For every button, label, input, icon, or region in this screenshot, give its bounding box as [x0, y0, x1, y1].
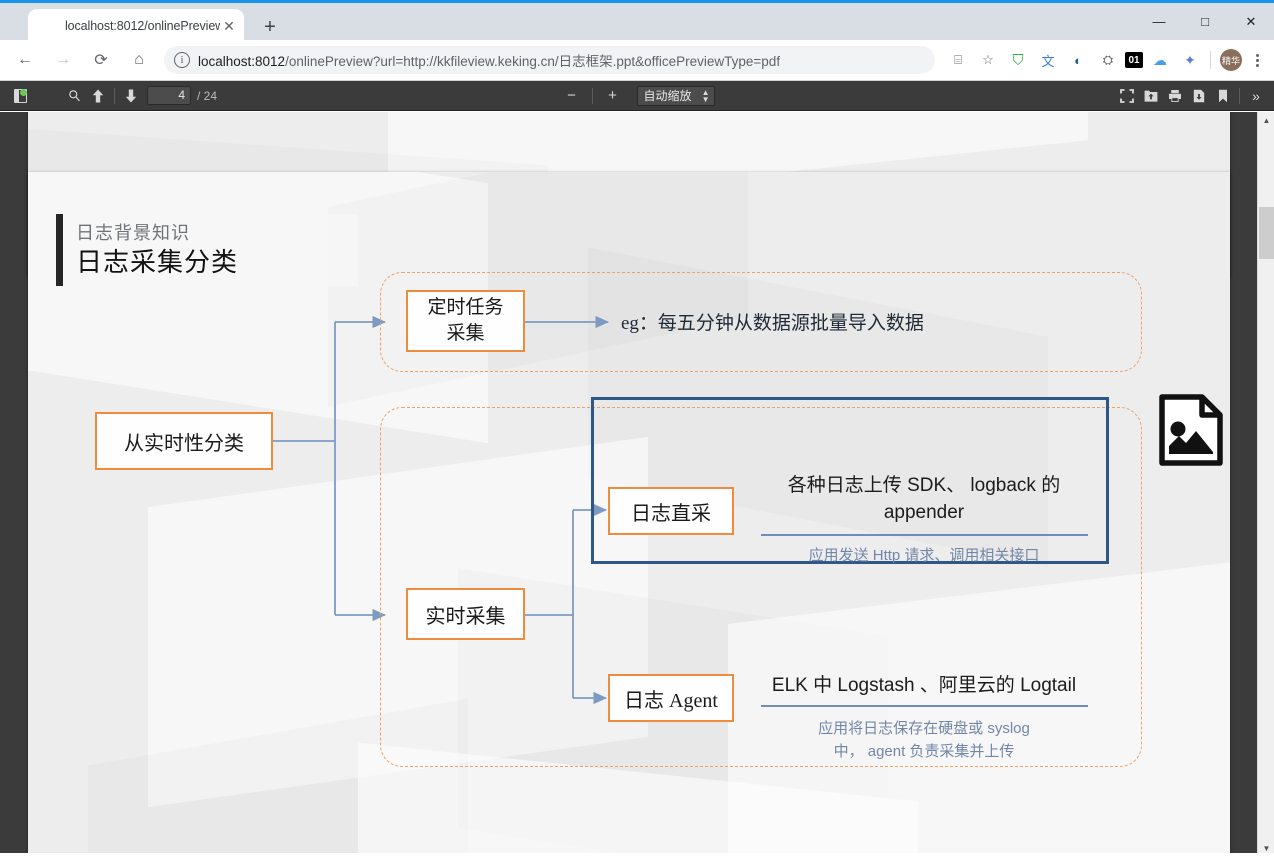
direct-collect-description: 各种日志上传 SDK、 logback 的 appender	[756, 472, 1092, 526]
opera-icon[interactable]: ◐	[1065, 47, 1091, 73]
url-host: localhost:8012	[198, 54, 285, 69]
open-file-icon[interactable]	[1139, 85, 1163, 107]
pdf-toolbar-left: 4 / 24	[0, 85, 217, 107]
sidebar-toggle-icon[interactable]	[8, 85, 32, 107]
page-number-input[interactable]: 4	[147, 86, 191, 105]
scheduled-example-label: eg：每五分钟从数据源批量导入数据	[621, 308, 924, 335]
toolbar-separator	[114, 88, 115, 104]
agent-collect-box: 日志 Agent	[608, 674, 734, 722]
reload-icon[interactable]: ⟳	[86, 45, 116, 75]
o1-badge-icon[interactable]: 01	[1125, 52, 1143, 68]
extensions-bar: ⌸ ☆ ⛉ 文 ◐ ⛭ 01 ☁ ✦ 精华	[943, 47, 1268, 73]
forward-icon[interactable]: →	[48, 45, 78, 75]
scheduled-collect-label-line1: 定时任务	[427, 295, 503, 321]
google-translate-icon[interactable]: 文	[1035, 47, 1061, 73]
bookmark-star-icon[interactable]: ☆	[975, 47, 1001, 73]
bookmark-icon[interactable]	[1211, 85, 1235, 107]
cloud-icon[interactable]: ☁	[1147, 47, 1173, 73]
tools-separator	[1239, 88, 1240, 104]
previous-page-icon[interactable]	[86, 85, 110, 107]
download-icon[interactable]	[1187, 85, 1211, 107]
scheduled-collect-label-line2: 采集	[446, 321, 484, 347]
pdf-page-current: 日志背景知识 日志采集分类	[28, 172, 1230, 857]
more-tools-button[interactable]: »	[1244, 85, 1268, 107]
scroll-up-icon[interactable]: ▲	[1258, 112, 1274, 129]
tab-close-icon[interactable]: ✕	[220, 17, 238, 35]
minimize-button[interactable]: —	[1136, 3, 1182, 40]
close-window-button[interactable]: ✕	[1228, 3, 1274, 40]
home-icon[interactable]: ⌂	[124, 45, 154, 75]
maximize-button[interactable]: □	[1182, 3, 1228, 40]
classification-root-box: 从实时性分类	[95, 412, 273, 470]
agent-collect-label: 日志 Agent	[624, 684, 718, 713]
scrollbar-thumb[interactable]	[1259, 207, 1274, 259]
leaf-icon	[40, 18, 57, 35]
zoom-select[interactable]: 自动缩放 ▲▼	[637, 86, 715, 106]
print-icon[interactable]	[1163, 85, 1187, 107]
agent-collect-note: 应用将日志保存在硬盘或 syslog 中， agent 负责采集并上传	[756, 717, 1092, 763]
direct-collect-underline	[761, 534, 1088, 536]
agent-collect-description-line1: ELK 中 Logstash 、阿里云的 Logtail	[756, 672, 1092, 699]
url-text: localhost:8012/onlinePreview?url=http://…	[198, 50, 780, 70]
direct-collect-description-line2: appender	[756, 499, 1092, 526]
address-bar[interactable]: i localhost:8012/onlinePreview?url=http:…	[164, 46, 935, 74]
tab-title: localhost:8012/onlinePreview?	[65, 19, 220, 33]
title-bar: localhost:8012/onlinePreview? ✕ + — □ ✕	[0, 0, 1274, 40]
next-page-icon[interactable]	[119, 85, 143, 107]
chevron-updown-icon: ▲▼	[702, 89, 710, 103]
direct-collect-box: 日志直采	[608, 487, 734, 535]
navigation-bar: ← → ⟳ ⌂ i localhost:8012/onlinePreview?u…	[0, 40, 1274, 81]
back-icon[interactable]: ←	[10, 45, 40, 75]
page-total-label: / 24	[197, 89, 217, 103]
broken-image-icon	[1158, 394, 1224, 466]
find-icon[interactable]	[62, 85, 86, 107]
agent-collect-note-line2: 中， agent 负责采集并上传	[756, 740, 1092, 763]
kebab-menu-icon[interactable]	[1246, 54, 1268, 67]
zoom-separator	[592, 88, 593, 104]
presentation-mode-icon[interactable]	[1115, 85, 1139, 107]
direct-collect-label: 日志直采	[631, 497, 711, 526]
new-tab-button[interactable]: +	[256, 13, 284, 41]
agent-collect-note-line1: 应用将日志保存在硬盘或 syslog	[756, 717, 1092, 740]
site-info-icon[interactable]: i	[174, 52, 190, 68]
agent-collect-description: ELK 中 Logstash 、阿里云的 Logtail	[756, 672, 1092, 699]
avatar[interactable]: 精华	[1220, 49, 1242, 71]
vertical-scrollbar[interactable]: ▲ ▼	[1257, 112, 1274, 857]
browser-window: localhost:8012/onlinePreview? ✕ + — □ ✕ …	[0, 0, 1274, 857]
pdf-viewer-toolbar: 4 / 24 − + 自动缩放 ▲▼	[0, 81, 1274, 111]
direct-collect-note: 应用发送 Http 请求、调用相关接口	[756, 544, 1092, 565]
direct-collect-description-line1: 各种日志上传 SDK、 logback 的	[756, 472, 1092, 499]
scheduled-collect-box: 定时任务 采集	[406, 290, 525, 352]
shield-icon[interactable]: ⛉	[1005, 47, 1031, 73]
pdf-toolbar-right: »	[1115, 85, 1274, 107]
zoom-select-value: 自动缩放	[644, 89, 692, 103]
slide-content: 日志背景知识 日志采集分类	[28, 172, 1230, 857]
toolbar-divider	[1210, 51, 1211, 69]
realtime-collect-box: 实时采集	[406, 588, 525, 640]
bird-icon[interactable]: ✦	[1177, 47, 1203, 73]
browser-tab[interactable]: localhost:8012/onlinePreview? ✕	[28, 9, 244, 43]
viewer-bottom-edge	[0, 853, 1274, 857]
agent-collect-underline	[761, 705, 1088, 707]
zoom-in-button[interactable]: +	[601, 85, 625, 107]
zoom-out-button[interactable]: −	[560, 85, 584, 107]
window-controls: — □ ✕	[1136, 3, 1274, 40]
pdf-scroll-container: 日志背景知识 日志采集分类	[0, 112, 1257, 857]
url-path: /onlinePreview?url=http://kkfileview.kek…	[285, 54, 780, 69]
classification-root-label: 从实时性分类	[124, 427, 244, 456]
network-icon[interactable]: ⛭	[1095, 47, 1121, 73]
realtime-collect-label: 实时采集	[426, 600, 506, 629]
translate-doc-icon[interactable]: ⌸	[945, 47, 971, 73]
pdf-viewer: 日志背景知识 日志采集分类	[0, 112, 1274, 857]
